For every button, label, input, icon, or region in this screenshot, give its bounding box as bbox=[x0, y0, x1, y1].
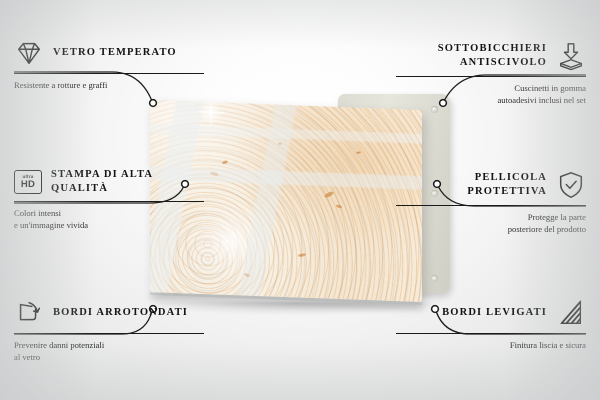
feature-title: BORDI LEVIGATI bbox=[442, 306, 547, 320]
feature-vetro-temperato[interactable]: VETRO TEMPERATO Resistente a rotture e g… bbox=[14, 38, 204, 91]
badge-hd-label: HD bbox=[21, 180, 35, 190]
feature-sottobicchieri-antiscivolo[interactable]: SOTTOBICCHIERI ANTISCIVOLO Cuscinetti in… bbox=[396, 41, 586, 107]
feature-bordi-levigati[interactable]: BORDI LEVIGATI Finitura liscia e sicura bbox=[396, 298, 586, 351]
feature-description: Prevenire danni potenziali al vetro bbox=[14, 339, 204, 364]
feature-pellicola-protettiva[interactable]: PELLICOLA PROTETTIVA Protegge la parte p… bbox=[396, 170, 586, 236]
feature-title: STAMPA DI ALTA QUALITÀ bbox=[51, 168, 204, 196]
feature-stampa-alta-qualita[interactable]: ultra HD STAMPA DI ALTA QUALITÀ Colori i… bbox=[14, 168, 204, 231]
rounded-corner-icon bbox=[14, 298, 44, 328]
feature-description: Protegge la parte posteriore del prodott… bbox=[396, 211, 586, 236]
feature-title: SOTTOBICCHIERI ANTISCIVOLO bbox=[396, 42, 547, 70]
divider bbox=[14, 201, 204, 202]
feature-header: SOTTOBICCHIERI ANTISCIVOLO bbox=[396, 41, 586, 71]
polished-edge-icon bbox=[556, 298, 586, 328]
mounting-hole bbox=[431, 275, 438, 282]
feature-title: PELLICOLA PROTETTIVA bbox=[396, 171, 547, 199]
feature-header: VETRO TEMPERATO bbox=[14, 38, 204, 68]
feature-description: Resistente a rotture e graffi bbox=[14, 79, 204, 91]
feature-description: Colori intensi e un'immagine vivida bbox=[14, 207, 204, 232]
feature-description: Cuscinetti in gomma autoadesivi inclusi … bbox=[396, 82, 586, 107]
divider bbox=[396, 333, 586, 334]
feature-title: VETRO TEMPERATO bbox=[53, 46, 177, 60]
divider bbox=[14, 73, 204, 74]
feature-header: PELLICOLA PROTETTIVA bbox=[396, 170, 586, 200]
feature-description: Finitura liscia e sicura bbox=[396, 339, 586, 351]
feature-title: BORDI ARROTONDATI bbox=[53, 306, 188, 320]
diamond-icon bbox=[14, 38, 44, 68]
ultra-hd-badge-icon: ultra HD bbox=[14, 170, 42, 194]
divider bbox=[14, 333, 204, 334]
wood-knot bbox=[278, 143, 282, 145]
shield-check-icon bbox=[556, 170, 586, 200]
anti-slip-pad-icon bbox=[556, 41, 586, 71]
feature-bordi-arrotondati[interactable]: BORDI ARROTONDATI Prevenire danni potenz… bbox=[14, 298, 204, 364]
mounting-hole bbox=[431, 106, 438, 113]
feature-header: ultra HD STAMPA DI ALTA QUALITÀ bbox=[14, 168, 204, 196]
divider bbox=[396, 76, 586, 77]
feature-header: BORDI ARROTONDATI bbox=[14, 298, 204, 328]
feature-header: BORDI LEVIGATI bbox=[396, 298, 586, 328]
infographic-stage: VETRO TEMPERATO Resistente a rotture e g… bbox=[0, 0, 600, 400]
divider bbox=[396, 205, 586, 206]
